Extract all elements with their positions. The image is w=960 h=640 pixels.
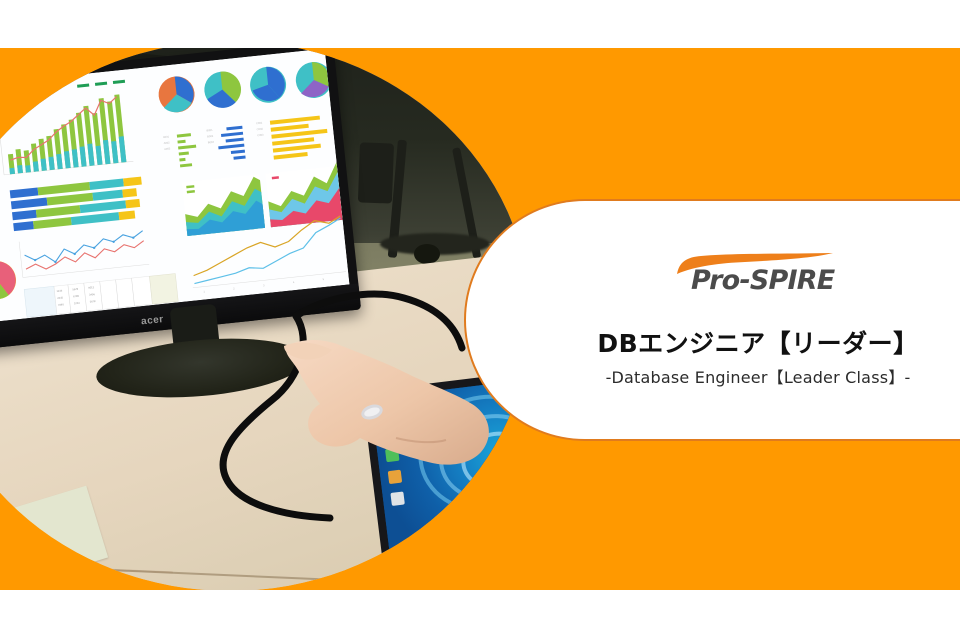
svg-text:B002: B002 — [207, 134, 214, 139]
svg-text:2345: 2345 — [57, 295, 64, 300]
svg-text:9012: 9012 — [88, 285, 95, 290]
info-card: Pro-SPIRE DBエンジニア【リーダー】 -Database Engine… — [464, 199, 960, 441]
chair-caster — [414, 244, 440, 264]
job-title-japanese: DBエンジニア【リーダー】 — [597, 324, 918, 360]
logo-text-spire: SPIRE — [750, 265, 835, 296]
svg-text:7890: 7890 — [58, 302, 65, 307]
svg-text:A003: A003 — [164, 146, 171, 151]
slide-root: 30002000 1000500 — [0, 0, 960, 640]
info-card-content: Pro-SPIRE DBエンジニア【リーダー】 -Database Engine… — [466, 201, 960, 439]
pro-spire-wordmark: Pro-SPIRE — [691, 265, 834, 296]
svg-text:C002: C002 — [256, 127, 263, 132]
svg-text:C001: C001 — [256, 121, 263, 126]
acer-brand-label: acer — [141, 314, 165, 327]
svg-text:B003: B003 — [208, 140, 215, 145]
svg-text:6789: 6789 — [73, 294, 80, 299]
svg-text:1234: 1234 — [56, 288, 63, 293]
svg-text:3456: 3456 — [89, 292, 96, 297]
logo-text-separator: - — [739, 265, 749, 296]
pro-spire-logo: Pro-SPIRE — [673, 252, 853, 298]
job-title-english: -Database Engineer【Leader Class】- — [606, 364, 911, 388]
svg-text:A002: A002 — [163, 140, 170, 145]
chair-part — [358, 142, 394, 203]
svg-text:B001: B001 — [206, 128, 213, 133]
svg-text:5678: 5678 — [90, 299, 97, 304]
svg-text:C003: C003 — [257, 133, 264, 138]
logo-text-pro: Pro — [691, 265, 739, 296]
svg-text:A001: A001 — [163, 134, 170, 139]
svg-text:1234: 1234 — [74, 301, 81, 306]
svg-text:5678: 5678 — [72, 287, 79, 292]
